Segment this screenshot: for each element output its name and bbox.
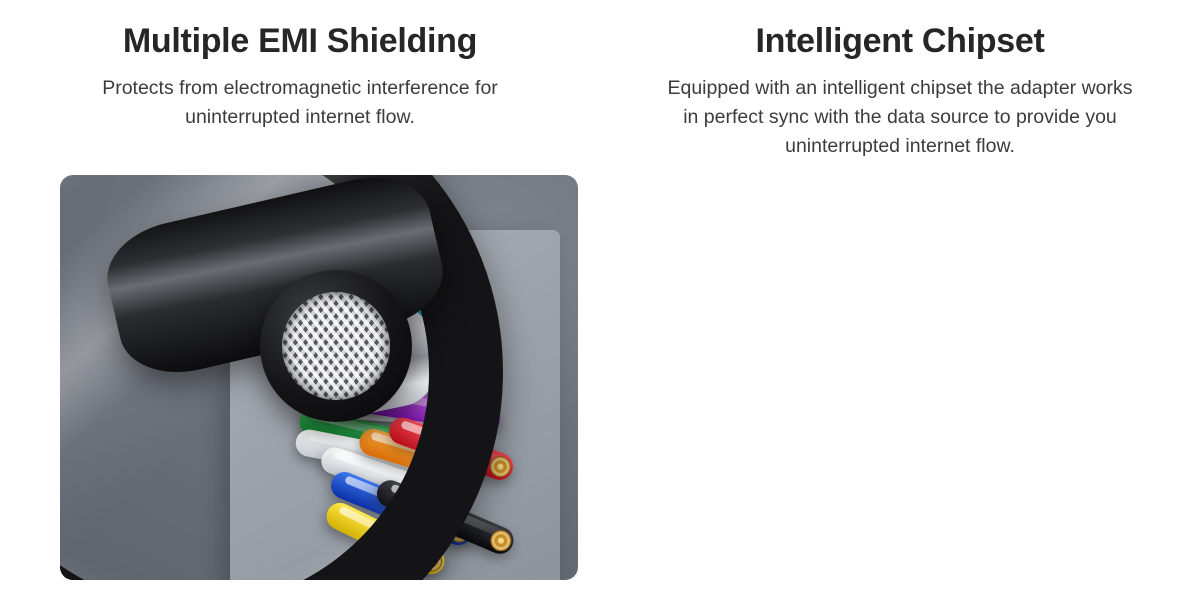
feature-description-emi-shielding: Protects from electromagnetic interferen… <box>65 61 535 132</box>
feature-title-intelligent-chipset: Intelligent Chipset <box>756 0 1045 61</box>
feature-emi-shielding: Multiple EMI Shielding Protects from ele… <box>0 0 600 600</box>
feature-title-emi-shielding: Multiple EMI Shielding <box>123 0 477 61</box>
cable-cut-end <box>260 270 412 422</box>
braided-emi-shield <box>282 292 390 400</box>
feature-description-intelligent-chipset: Equipped with an intelligent chipset the… <box>665 61 1135 161</box>
ethernet-cable-cross-section-photo <box>60 175 578 580</box>
feature-comparison-page: Multiple EMI Shielding Protects from ele… <box>0 0 1200 600</box>
feature-intelligent-chipset: Intelligent Chipset Equipped with an int… <box>600 0 1200 600</box>
